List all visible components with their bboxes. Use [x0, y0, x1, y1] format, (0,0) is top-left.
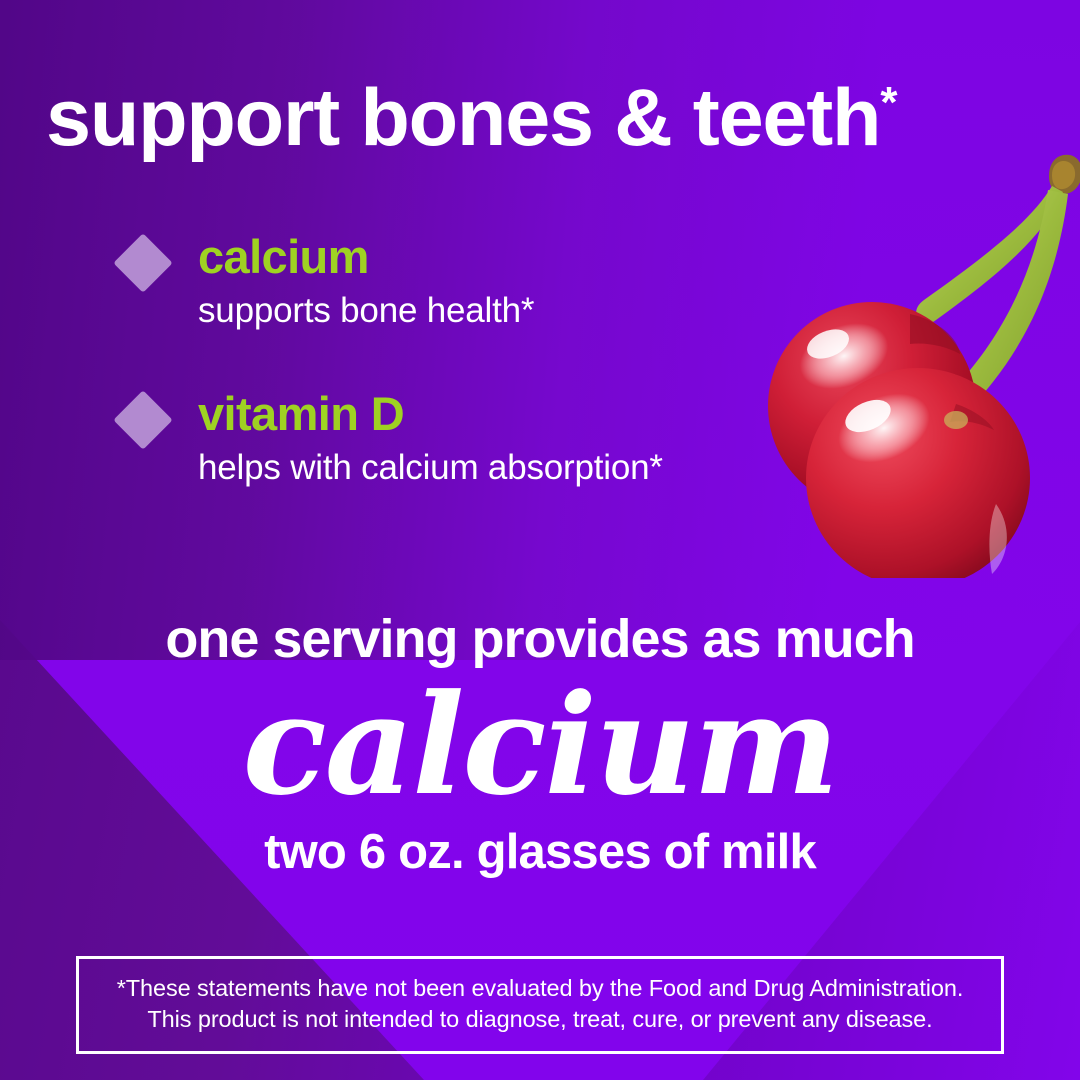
serving-lead-text: one serving provides as much	[0, 612, 1080, 666]
benefits-list: calcium supports bone health* vitamin D …	[120, 232, 840, 488]
serving-nutrient-word: calcium	[0, 676, 1080, 814]
diamond-icon	[113, 390, 172, 449]
benefit-subtitle-calcium: supports bone health*	[198, 291, 840, 331]
disclaimer-line-2: This product is not intended to diagnose…	[97, 1004, 983, 1035]
diamond-icon	[113, 233, 172, 292]
disclaimer-line-1: *These statements have not been evaluate…	[97, 973, 983, 1004]
headline-text: support bones & teeth	[46, 73, 880, 163]
headline-footnote-marker: *	[880, 78, 897, 127]
benefit-title-vitamin-d: vitamin D	[198, 389, 840, 440]
serving-comparison-text: two 6 oz. glasses of milk	[0, 828, 1080, 877]
benefit-item-vitamin-d: vitamin D helps with calcium absorption*	[120, 389, 840, 488]
benefit-title-calcium: calcium	[198, 232, 840, 283]
benefit-subtitle-vitamin-d: helps with calcium absorption*	[198, 448, 840, 488]
product-benefit-poster: support bones & teeth* calcium supports …	[0, 0, 1080, 1080]
benefit-item-calcium: calcium supports bone health*	[120, 232, 840, 331]
disclaimer-box: *These statements have not been evaluate…	[76, 956, 1004, 1054]
page-title: support bones & teeth*	[46, 78, 1046, 159]
serving-claim-block: one serving provides as much calcium two…	[0, 612, 1080, 877]
